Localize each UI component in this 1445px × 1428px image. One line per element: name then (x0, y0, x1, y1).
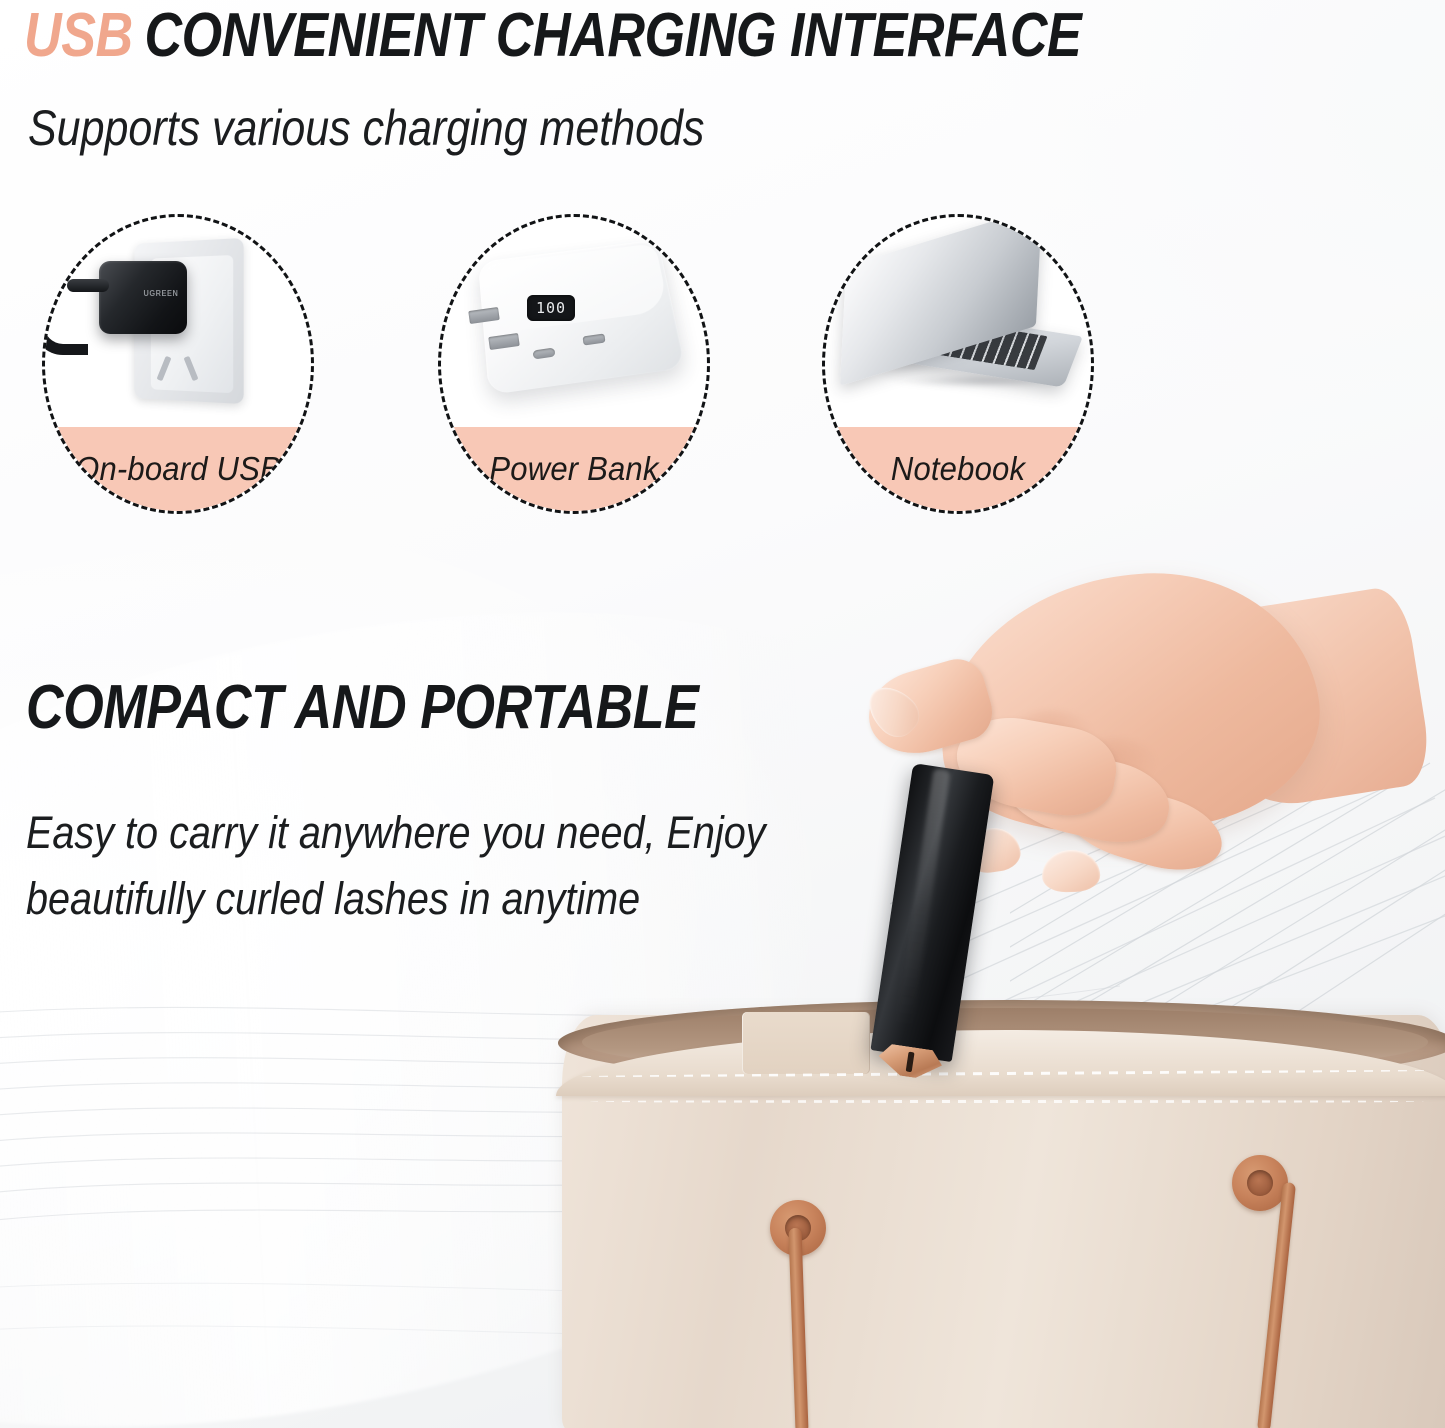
page-title-main: CONVENIENT CHARGING INTERFACE (144, 1, 1081, 70)
badge-label: On-board USB (53, 427, 303, 511)
charger-brick: UGREEN (99, 261, 187, 334)
power-bank-top-face (482, 243, 669, 334)
power-bank-icon: 100 (441, 217, 707, 427)
charging-method-badge-power-bank: 100 Power Bank (438, 214, 710, 514)
product-feature-page: USBCONVENIENT CHARGING INTERFACE Support… (0, 0, 1445, 1428)
page-title: USBCONVENIENT CHARGING INTERFACE (24, 4, 1081, 68)
power-bank-body (478, 239, 686, 395)
charger-brand-label: UGREEN (144, 289, 179, 298)
hand (770, 560, 1330, 990)
laptop-icon (825, 217, 1091, 427)
charging-methods-row: UGREEN On-board USB (0, 214, 1445, 524)
power-bank-display-value: 100 (527, 295, 575, 321)
badge-dashed-circle: Notebook (822, 214, 1094, 514)
fingernail-ring (1041, 849, 1100, 893)
wall-charger-icon: UGREEN (45, 217, 311, 427)
laptop-body (839, 233, 1087, 393)
badge-label: Notebook (833, 427, 1083, 511)
handbag-grommet-right (1232, 1155, 1288, 1211)
charging-method-badge-on-board-usb: UGREEN On-board USB (42, 214, 314, 514)
handbag-inner-divider (742, 1012, 870, 1074)
badge-dashed-circle: 100 Power Bank (438, 214, 710, 514)
page-subtitle: Supports various charging methods (28, 100, 704, 156)
charging-method-badge-notebook: Notebook (822, 214, 1094, 514)
page-title-accent: USB (24, 1, 133, 70)
badge-label: Power Bank (449, 427, 699, 511)
handbag-stitching-second (590, 1100, 1424, 1103)
charger-cable (67, 279, 109, 292)
power-bank-display: 100 (527, 295, 575, 321)
badge-dashed-circle: UGREEN On-board USB (42, 214, 314, 514)
lifestyle-photo (470, 560, 1445, 1428)
